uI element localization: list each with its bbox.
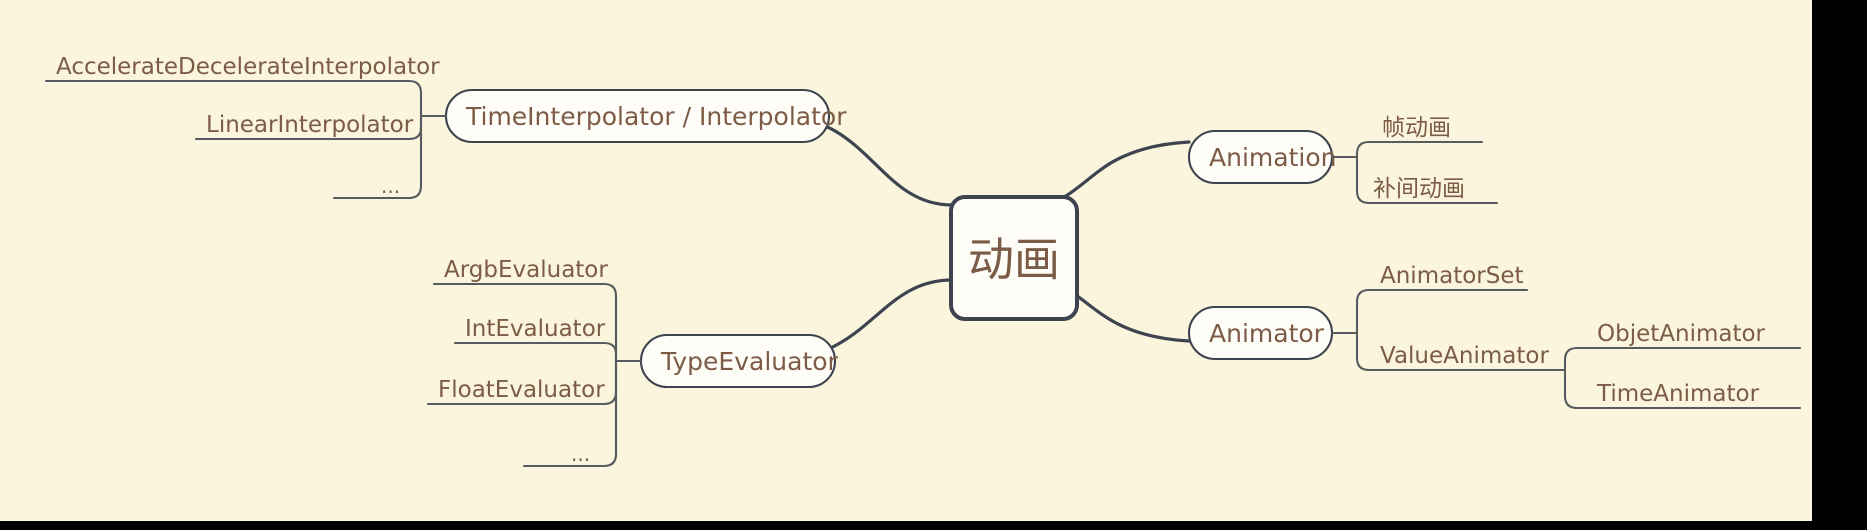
leaf-animator-set[interactable]: AnimatorSet	[1380, 263, 1524, 289]
node-animation-label: Animation	[1209, 143, 1336, 172]
leaf-accelerate-decelerate-interpolator[interactable]: AccelerateDecelerateInterpolator	[56, 54, 440, 80]
branch-value-animator-child-0-line	[1565, 348, 1800, 370]
mindmap-svg: 动画 TimeInterpolator / Interpolator Accel…	[0, 0, 1812, 521]
leaf-linear-interpolator[interactable]: LinearInterpolator	[206, 112, 414, 138]
node-animator-label: Animator	[1209, 319, 1325, 348]
node-interpolator-label: TimeInterpolator / Interpolator	[465, 102, 847, 131]
leaf-objet-animator[interactable]: ObjetAnimator	[1597, 321, 1766, 347]
leaf-tween-animation[interactable]: 补间动画	[1373, 176, 1465, 202]
node-evaluator-label: TypeEvaluator	[660, 347, 839, 376]
branch-interpolator-child-0-line	[46, 81, 421, 116]
leaf-int-evaluator[interactable]: IntEvaluator	[465, 316, 606, 342]
leaf-value-animator[interactable]: ValueAnimator	[1380, 343, 1549, 369]
leaf-time-animator[interactable]: TimeAnimator	[1596, 381, 1760, 407]
leaf-evaluator-ellipsis[interactable]: ...	[571, 442, 590, 466]
leaf-interpolator-ellipsis[interactable]: ...	[381, 174, 400, 198]
root-node-label: 动画	[968, 233, 1060, 287]
branch-animation-child-0-line	[1357, 142, 1482, 157]
leaf-argb-evaluator[interactable]: ArgbEvaluator	[444, 257, 608, 283]
branch-animator-child-0-line	[1357, 290, 1527, 333]
diagram-canvas: 动画 TimeInterpolator / Interpolator Accel…	[0, 0, 1812, 521]
diagram-stage: 动画 TimeInterpolator / Interpolator Accel…	[0, 0, 1867, 530]
leaf-float-evaluator[interactable]: FloatEvaluator	[438, 377, 605, 403]
branch-evaluator-child-1-line	[455, 343, 616, 361]
leaf-frame-animation[interactable]: 帧动画	[1382, 115, 1451, 141]
